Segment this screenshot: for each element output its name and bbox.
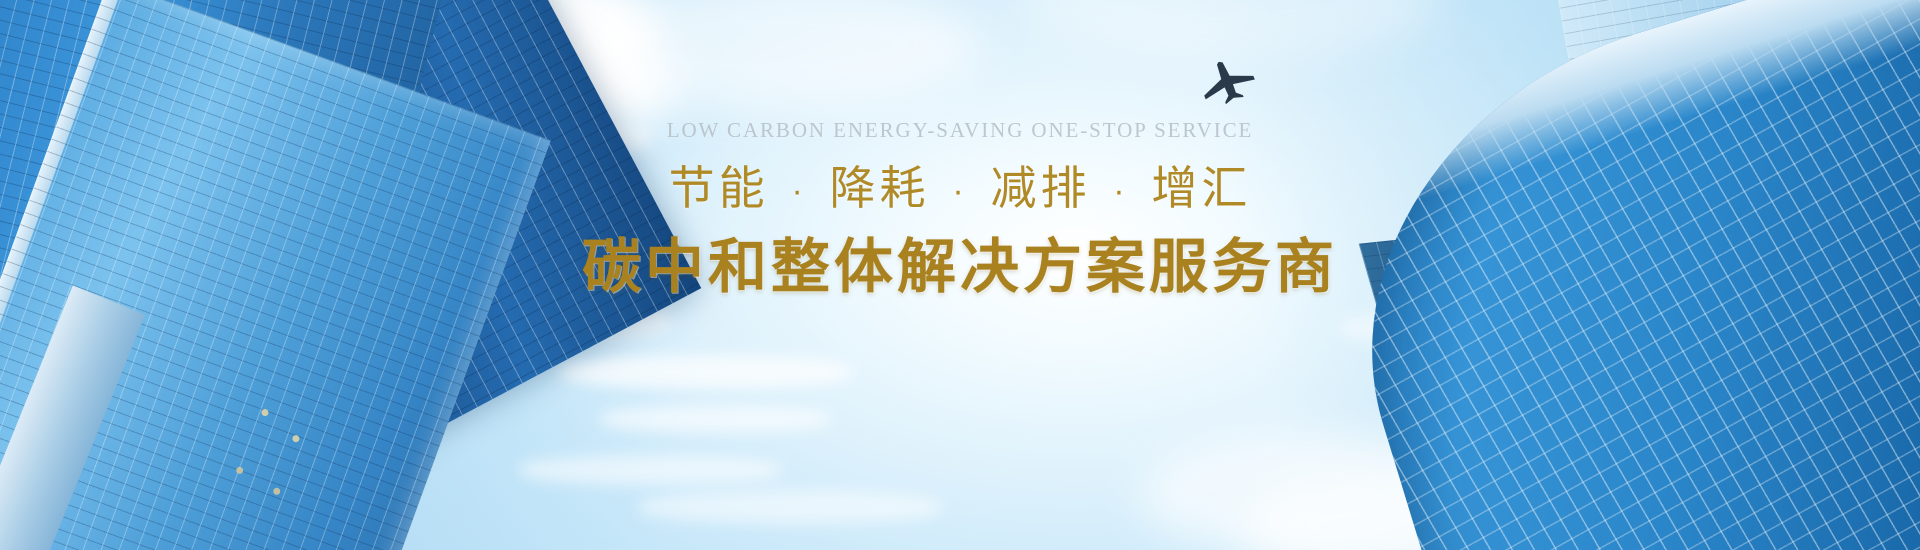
banner-copy: LOW CARBON ENERGY-SAVING ONE-STOP SERVIC… (0, 118, 1920, 305)
banner-eyebrow-text: LOW CARBON ENERGY-SAVING ONE-STOP SERVIC… (0, 118, 1920, 143)
airplane-icon (1196, 56, 1258, 104)
headline-separator-3: · (1107, 172, 1134, 210)
banner-subheadline: 碳中和整体解决方案服务商 (0, 231, 1920, 305)
headline-part-1: 节能 (669, 162, 769, 214)
hero-banner: LOW CARBON ENERGY-SAVING ONE-STOP SERVIC… (0, 0, 1920, 550)
headline-part-3: 减排 (990, 162, 1090, 214)
banner-headline: 节能 · 降耗 · 减排 · 增汇 (0, 157, 1920, 219)
headline-separator-1: · (785, 172, 812, 210)
headline-part-4: 增汇 (1151, 162, 1251, 214)
headline-separator-2: · (946, 172, 973, 210)
headline-part-2: 降耗 (830, 162, 930, 214)
